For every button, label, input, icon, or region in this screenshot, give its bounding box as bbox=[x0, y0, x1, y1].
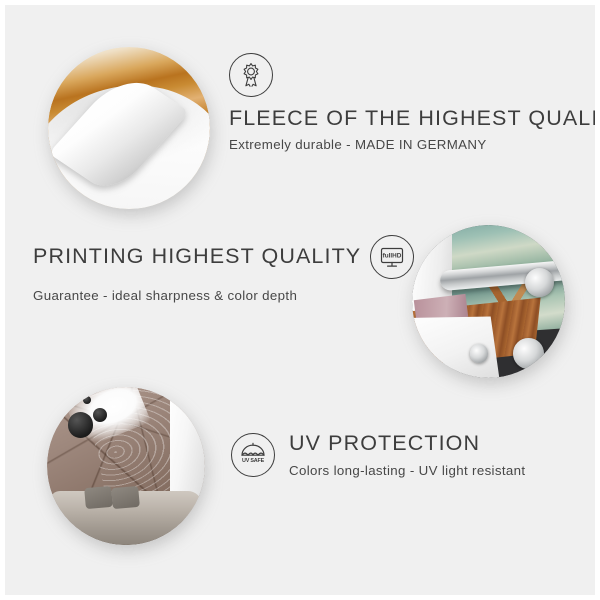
pendant-lamp bbox=[68, 412, 93, 437]
product-features-infographic: FLEECE OF THE HIGHEST QUALITY Extremely … bbox=[0, 0, 600, 600]
uv-text-block: UV PROTECTION Colors long-lasting - UV l… bbox=[289, 432, 525, 478]
cushion bbox=[111, 485, 140, 508]
feature-title: UV PROTECTION bbox=[289, 432, 525, 456]
printer-roller-knob bbox=[470, 344, 488, 362]
feature-subtitle: Extremely durable - MADE IN GERMANY bbox=[229, 138, 600, 153]
uv-safe-umbrella-icon: UV SAFE bbox=[231, 433, 275, 477]
feature-uv-protection: UV SAFE UV PROTECTION Colors long-lastin… bbox=[231, 432, 525, 478]
feature-fleece: FLEECE OF THE HIGHEST QUALITY Extremely … bbox=[229, 53, 600, 152]
feature-subtitle: Guarantee - ideal sharpness & color dept… bbox=[33, 289, 414, 304]
title-with-icon-row: PRINTING HIGHEST QUALITY fullHD bbox=[33, 235, 414, 279]
living-room-wallpaper-photo bbox=[47, 387, 205, 545]
feature-subtitle: Colors long-lasting - UV light resistant bbox=[289, 464, 525, 479]
award-rosette-icon bbox=[229, 53, 273, 97]
large-format-printer-photo bbox=[412, 225, 565, 378]
svg-text:fullHD: fullHD bbox=[383, 252, 402, 259]
peeling-fleece-wallpaper-photo bbox=[48, 47, 210, 209]
fullhd-monitor-icon: fullHD bbox=[370, 235, 414, 279]
feature-printing: PRINTING HIGHEST QUALITY fullHD Guarante… bbox=[33, 235, 414, 304]
printer-roller-knob bbox=[525, 268, 554, 297]
printer-roller-knob bbox=[513, 338, 544, 369]
pendant-lamp bbox=[93, 408, 107, 422]
cushion bbox=[84, 485, 113, 508]
svg-text:UV SAFE: UV SAFE bbox=[242, 458, 265, 464]
feature-title: FLEECE OF THE HIGHEST QUALITY bbox=[229, 107, 600, 131]
feature-title: PRINTING HIGHEST QUALITY bbox=[33, 245, 361, 269]
